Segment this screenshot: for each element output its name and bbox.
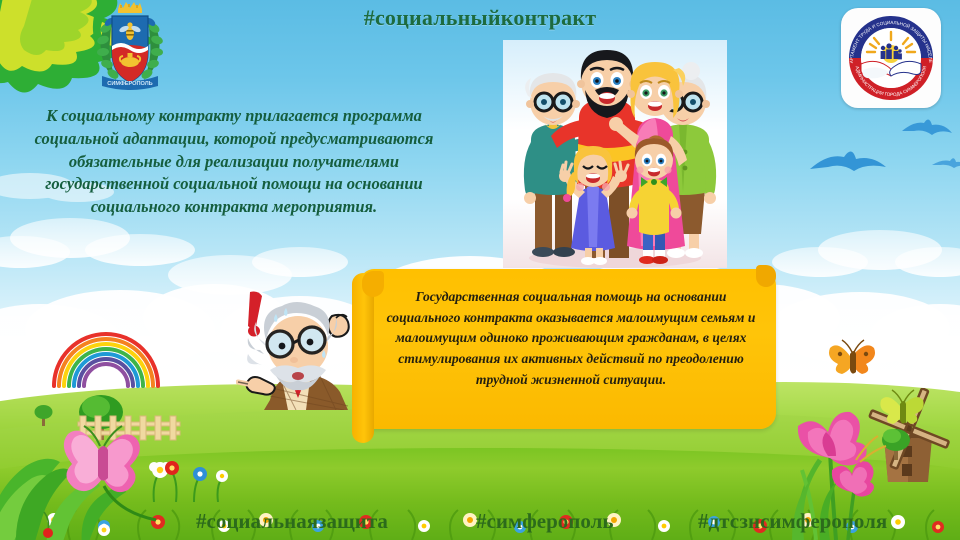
hashtag-simferopol: #симферополь — [476, 509, 613, 534]
scroll-curl-top-left — [362, 271, 384, 297]
cloud-band-upper-left — [0, 218, 348, 295]
small-flowers — [124, 432, 244, 502]
cloud-band-upper-right — [772, 230, 960, 277]
hand-icon — [328, 315, 348, 337]
family-illustration — [503, 40, 727, 268]
scroll-banner: Государственная социальная помощь на осн… — [352, 265, 776, 443]
scroll-curl-top-right — [756, 265, 776, 287]
professor-illustration — [236, 288, 356, 410]
hashtag-social-protection: #социальнаязащита — [196, 509, 388, 534]
professor-head — [247, 302, 337, 390]
yellow-butterfly-icon — [878, 386, 930, 428]
hashtag-top: #социальныйконтракт — [0, 5, 960, 31]
scroll-text: Государственная социальная помощь на осн… — [382, 287, 760, 390]
left-paragraph: К социальному контракту прилагается прог… — [8, 105, 460, 219]
coat-ribbon-text: СИМФЕРОПОЛЬ — [107, 81, 152, 87]
slide-canvas: СИМФЕРОПОЛЬ ДЕПАРТАМЕНТ ТРУДА И СОЦИАЛЬН… — [0, 0, 960, 540]
flying-birds-icon — [790, 105, 960, 205]
hashtag-dtszn-simferopol: #дтсзнсимферополя — [698, 509, 887, 534]
hand-icon — [238, 377, 275, 395]
small-flowers — [98, 524, 110, 536]
scroll-roll-left — [352, 273, 374, 443]
